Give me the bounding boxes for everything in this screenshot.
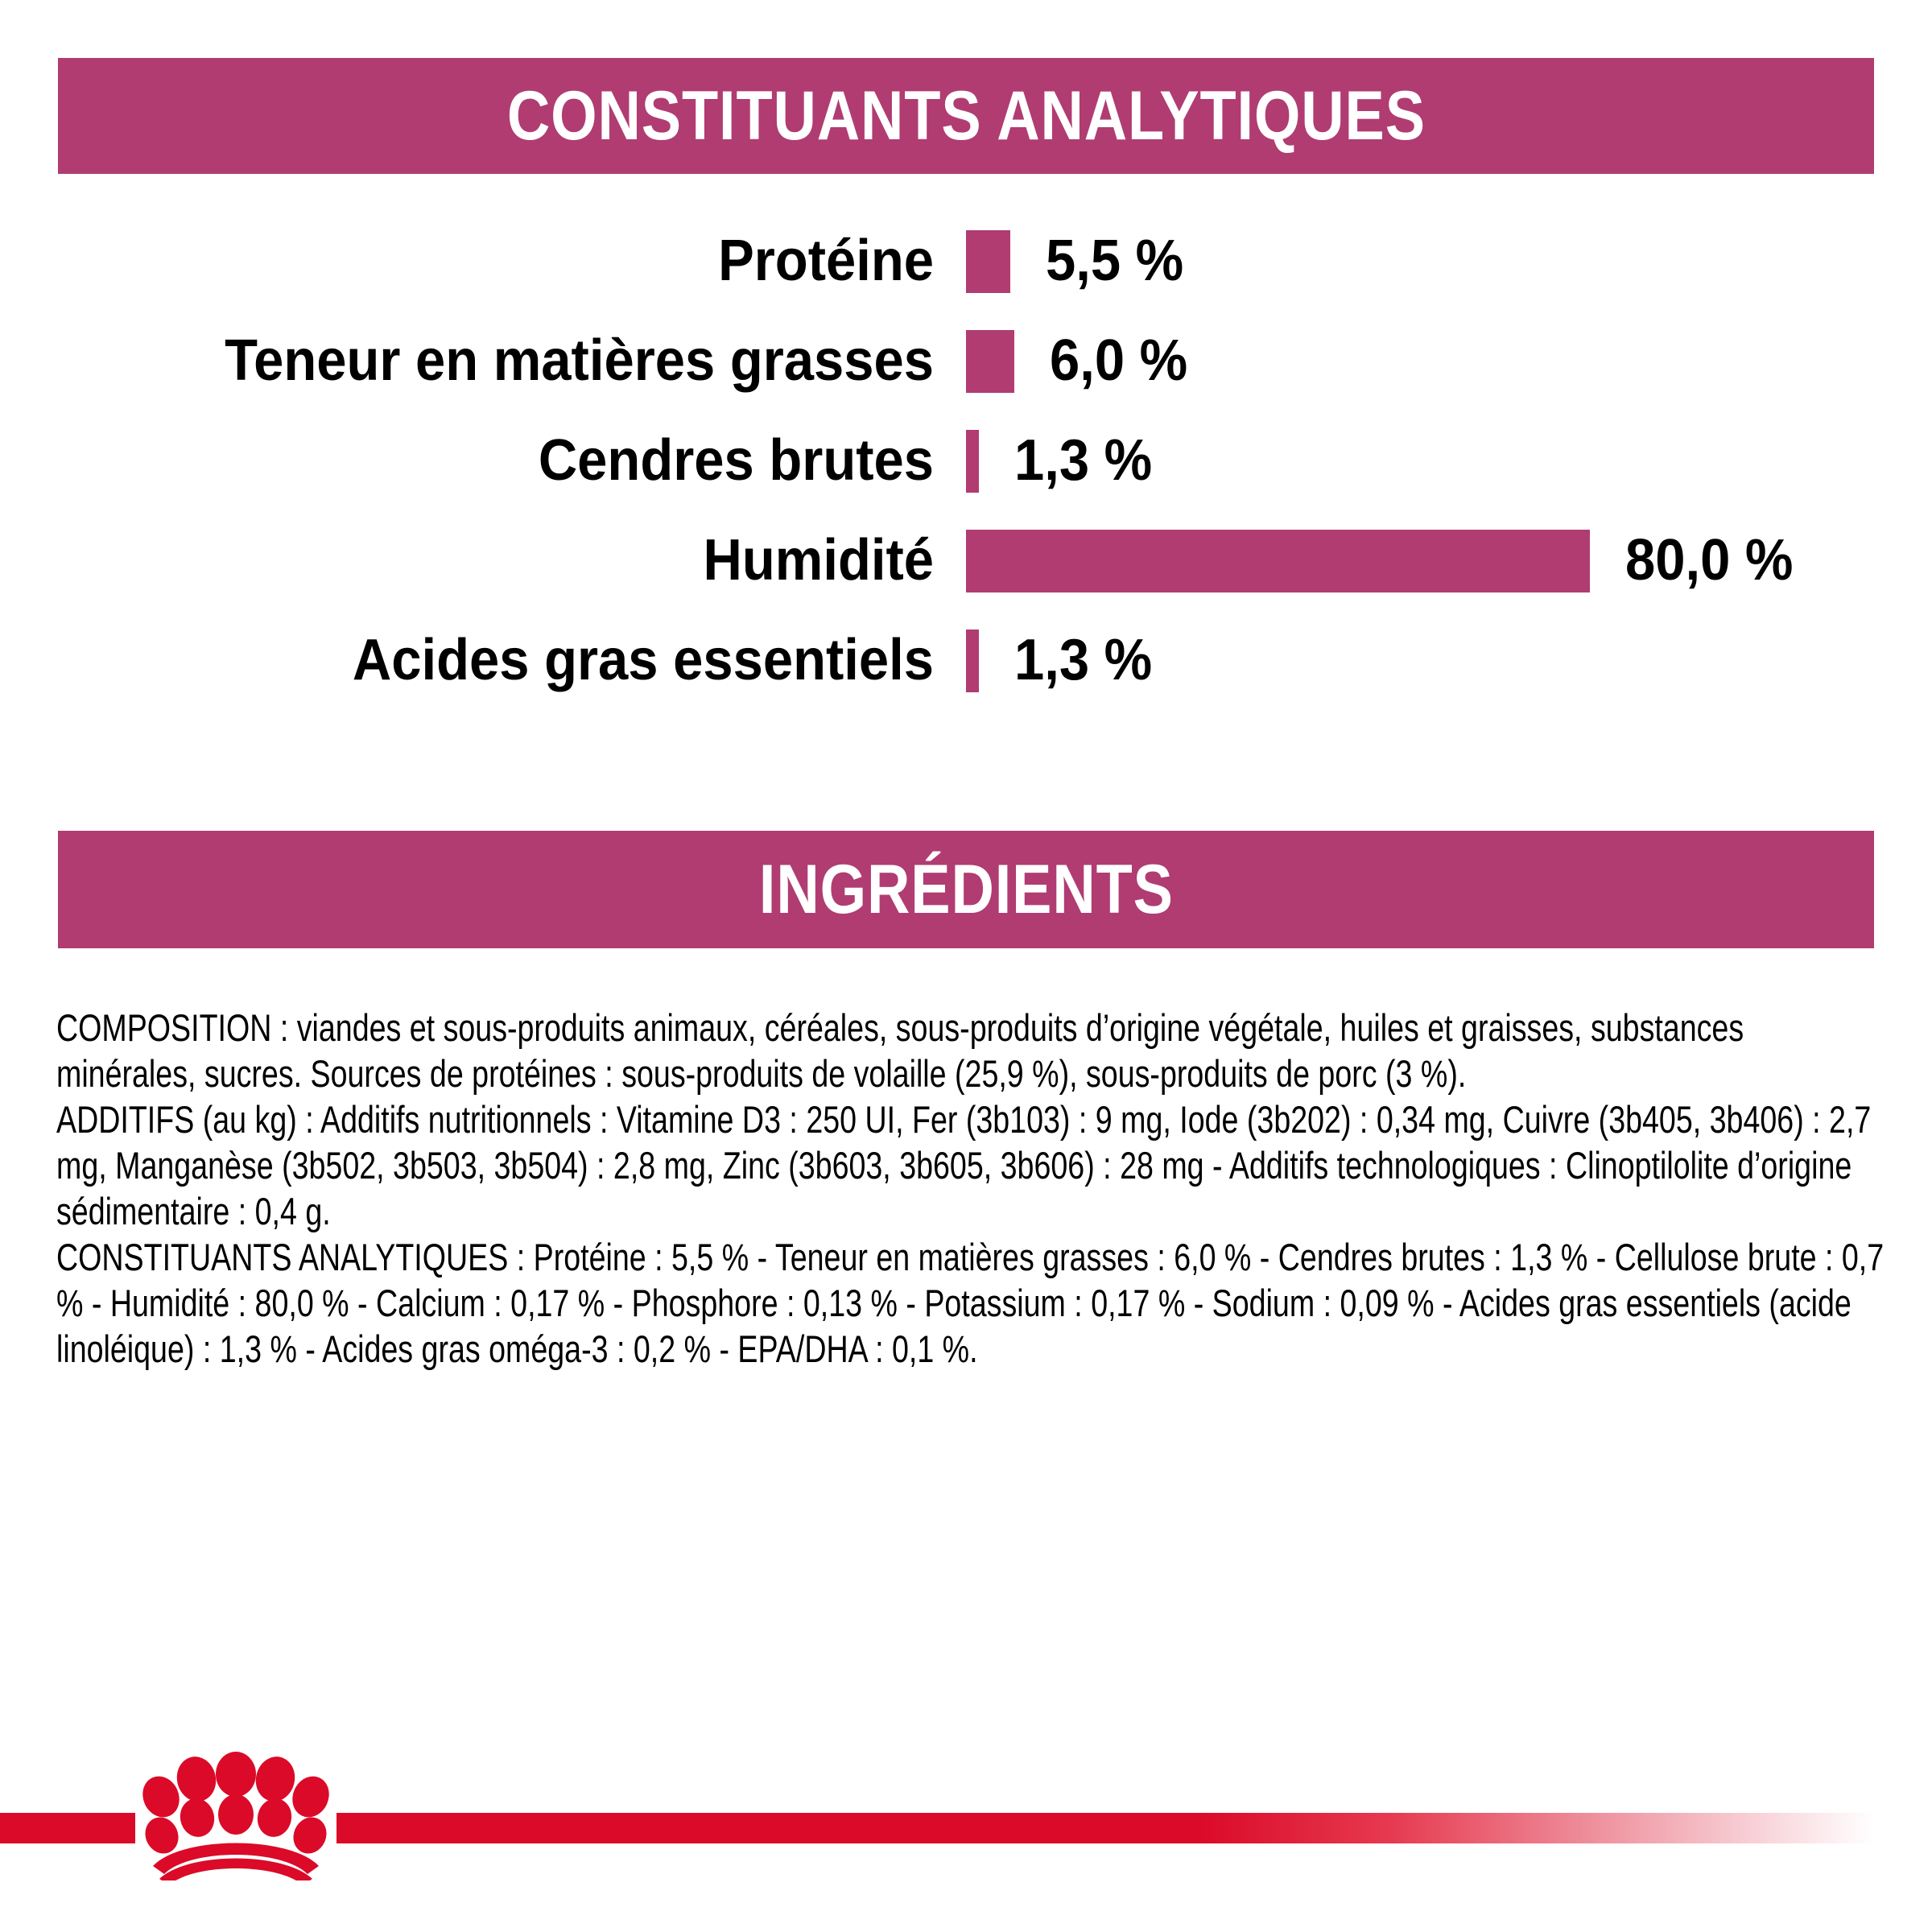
nutrient-row: Humidité80,0 % bbox=[0, 523, 1932, 597]
nutrient-value: 5,5 % bbox=[1046, 224, 1183, 298]
nutrient-row: Cendres brutes1,3 % bbox=[0, 423, 1932, 497]
nutrient-bar-wrap bbox=[966, 630, 979, 692]
ingredients-paragraph: COMPOSITION : viandes et sous-produits a… bbox=[56, 1005, 1885, 1096]
nutrient-row: Protéine5,5 % bbox=[0, 224, 1932, 298]
nutrient-value: 1,3 % bbox=[1014, 623, 1152, 697]
nutrient-row: Teneur en matières grasses6,0 % bbox=[0, 324, 1932, 398]
nutrient-bar-wrap bbox=[966, 230, 1010, 293]
analytical-constituents-title: CONSTITUANTS ANALYTIQUES bbox=[506, 76, 1425, 156]
nutrient-label: Cendres brutes bbox=[65, 423, 934, 497]
nutrient-bar-wrap bbox=[966, 530, 1590, 592]
nutrient-bar bbox=[966, 330, 1014, 393]
ingredients-paragraph: ADDITIFS (au kg) : Additifs nutritionnel… bbox=[56, 1096, 1885, 1234]
nutrient-label: Acides gras essentiels bbox=[65, 623, 934, 697]
nutrient-value: 80,0 % bbox=[1625, 523, 1793, 597]
ingredients-title: INGRÉDIENTS bbox=[759, 850, 1174, 930]
nutrient-row: Acides gras essentiels1,3 % bbox=[0, 623, 1932, 697]
nutrient-bar bbox=[966, 630, 979, 692]
nutrient-bar-wrap bbox=[966, 330, 1014, 393]
nutrient-label: Protéine bbox=[65, 224, 934, 298]
nutrient-bar-chart: Protéine5,5 %Teneur en matières grasses6… bbox=[0, 224, 1932, 723]
nutrient-bar bbox=[966, 230, 1010, 293]
nutrient-label: Humidité bbox=[65, 523, 934, 597]
nutrient-value: 6,0 % bbox=[1050, 324, 1187, 398]
nutrient-bar bbox=[966, 530, 1590, 592]
nutrient-label: Teneur en matières grasses bbox=[65, 324, 934, 398]
royal-canin-crown-logo bbox=[135, 1752, 336, 1880]
ingredients-header: INGRÉDIENTS bbox=[58, 831, 1874, 948]
nutrient-bar bbox=[966, 430, 979, 493]
ingredients-body-text: COMPOSITION : viandes et sous-produits a… bbox=[56, 1005, 1885, 1372]
nutrient-value: 1,3 % bbox=[1014, 423, 1152, 497]
nutrient-bar-wrap bbox=[966, 430, 979, 493]
analytical-constituents-header: CONSTITUANTS ANALYTIQUES bbox=[58, 58, 1874, 174]
ingredients-paragraph: CONSTITUANTS ANALYTIQUES : Protéine : 5,… bbox=[56, 1234, 1885, 1372]
